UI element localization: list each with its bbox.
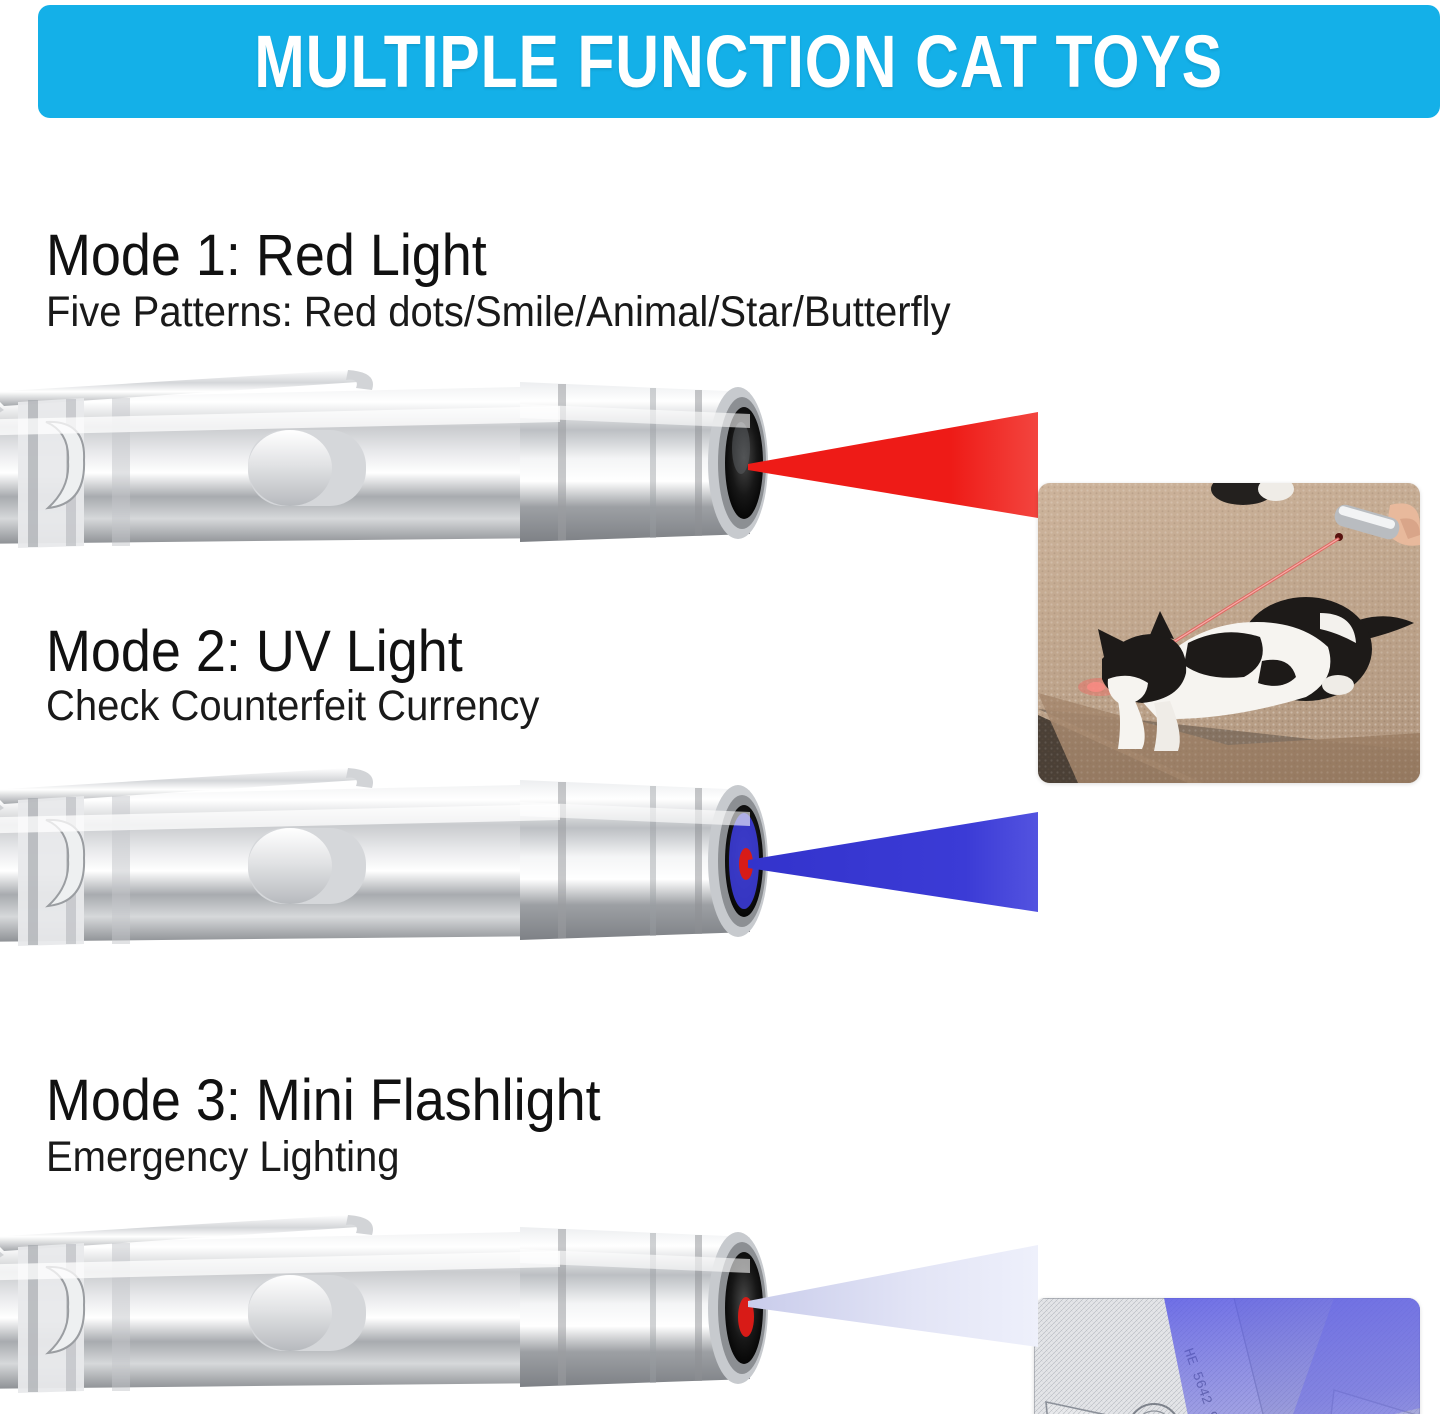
mode-2-subtitle: Check Counterfeit Currency (46, 682, 539, 731)
flashlight-illustration-3 (0, 1193, 790, 1414)
slide-switch-button (248, 430, 332, 506)
header-banner: MULTIPLE FUNCTION CAT TOYS (38, 5, 1440, 118)
flashlight-svg-1 (0, 348, 790, 578)
mode-section-3: Mode 3: Mini Flashlight Emergency Lighti… (0, 1045, 1445, 1414)
flashlight-svg-3 (0, 1193, 790, 1414)
mode-1-title: Mode 1: Red Light (46, 222, 487, 289)
mode-2-title: Mode 2: UV Light (46, 618, 463, 685)
mode-1-subtitle: Five Patterns: Red dots/Smile/Animal/Sta… (46, 288, 951, 337)
flashlight-illustration-2 (0, 746, 790, 976)
banner-title: MULTIPLE FUNCTION CAT TOYS (255, 19, 1224, 104)
flashlight-svg-2 (0, 746, 790, 976)
white-flashlight-beam (748, 1235, 1038, 1385)
slide-switch-button (248, 828, 332, 904)
flashlight-illustration-1 (0, 348, 790, 578)
slide-switch-button (248, 1275, 332, 1351)
infographic-page: MULTIPLE FUNCTION CAT TOYS Mode 1: Red L… (0, 0, 1445, 1414)
mode-section-1: Mode 1: Red Light Five Patterns: Red dot… (0, 200, 1445, 600)
mode-3-subtitle: Emergency Lighting (46, 1133, 399, 1182)
mode-3-title: Mode 3: Mini Flashlight (46, 1067, 601, 1134)
red-laser-beam (748, 390, 1038, 540)
uv-blue-beam (748, 788, 1038, 938)
mode-section-2: Mode 2: UV Light Check Counterfeit Curre… (0, 598, 1445, 1018)
